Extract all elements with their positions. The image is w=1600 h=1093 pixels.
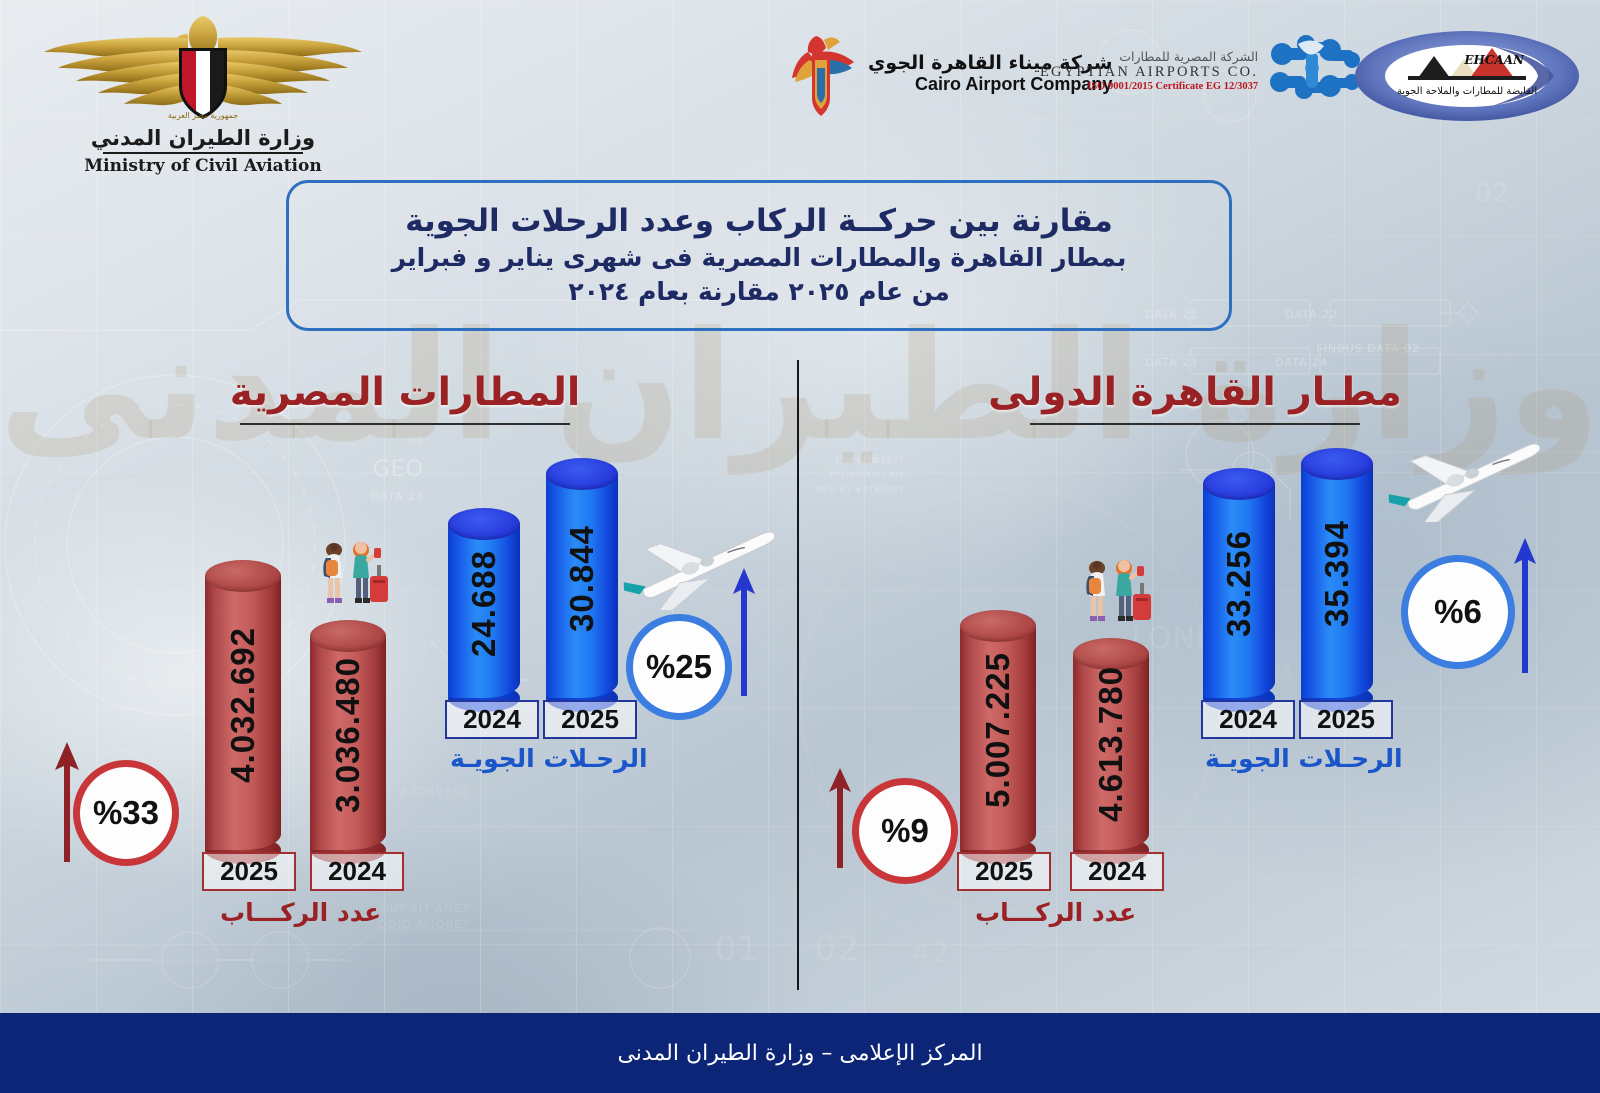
- panel-egyptian-airports: المطارات المصرية 4.032.692 3.036.480: [20, 370, 790, 980]
- category-label-passengers: عدد الركـــاب: [975, 898, 1136, 927]
- eac-arabic-label: الشركة المصرية للمطارات: [1040, 49, 1258, 64]
- moca-divider: [103, 152, 303, 154]
- eac-english-label: EGYPTIAN AIRPORTS CO.: [1040, 64, 1258, 81]
- year-tag-passengers-2024: 2024: [1070, 852, 1164, 891]
- bar-value: 30.844: [546, 458, 618, 698]
- bar-value: 33.256: [1203, 468, 1275, 698]
- logo-ehcaan: EHCAAN القابضة للمطارات والملاحة الجوية: [1352, 26, 1582, 126]
- airplane-icon: [1385, 432, 1550, 526]
- category-label-passengers: عدد الركـــاب: [220, 898, 381, 927]
- travellers-illustration: [1071, 556, 1157, 642]
- airplane-icon: [620, 520, 785, 614]
- svg-text:جمهورية مصر العربية: جمهورية مصر العربية: [168, 111, 238, 120]
- category-label-flights: الرحـلات الجويـة: [1205, 744, 1403, 773]
- horus-falcon-icon: [786, 30, 860, 116]
- main-title-box: مقارنة بين حركــة الركاب وعدد الرحلات ال…: [286, 180, 1232, 331]
- bar-flights-2024-egyptian-airports: 24.688: [448, 508, 520, 698]
- growth-badge-passengers: %33: [73, 760, 179, 866]
- growth-badge-passengers: %9: [852, 778, 958, 884]
- bar-value: 4.613.780: [1073, 638, 1149, 850]
- logo-bar: جمهورية مصر العربية وزارة الطيران المدني…: [0, 0, 1600, 185]
- golden-wings-icon: جمهورية مصر العربية: [38, 12, 368, 124]
- title-line-2: بمطار القاهرة والمطارات المصرية فى شهرى …: [392, 241, 1127, 275]
- panel-header-egyptian-airports: المطارات المصرية: [20, 370, 790, 425]
- panel-title-cairo-international-airport: مطـار القاهرة الدولى: [805, 370, 1585, 415]
- growth-badge-flights: %6: [1401, 555, 1515, 669]
- growth-arrow-passengers-up-icon: [50, 742, 84, 866]
- moca-arabic-label: وزارة الطيران المدني: [38, 126, 368, 150]
- growth-arrow-passengers-up-icon: [825, 768, 855, 872]
- panel-divider: [797, 360, 799, 990]
- bar-passengers-2024-cairo-airport: 4.613.780: [1073, 638, 1149, 850]
- bar-value: 24.688: [448, 508, 520, 698]
- molecule-network-icon: [1268, 34, 1360, 106]
- panel-title-underline: [240, 423, 570, 425]
- footer-text: المركز الإعلامى – وزارة الطيران المدنى: [617, 1041, 982, 1066]
- eac-iso-label: ISO 9001/2015 Certificate EG 12/3037: [1040, 81, 1258, 92]
- bar-flights-2024-cairo-airport: 33.256: [1203, 468, 1275, 698]
- panel-cairo-international-airport: مطـار القاهرة الدولى 5.007.225 4.613.780: [805, 370, 1585, 980]
- year-tag-passengers-2025: 2025: [957, 852, 1051, 891]
- logo-egyptian-airports-company: الشركة المصرية للمطارات EGYPTIAN AIRPORT…: [1040, 34, 1360, 106]
- year-tag-flights-2024: 2024: [1201, 700, 1295, 739]
- bar-passengers-2024-egyptian-airports: 3.036.480: [310, 620, 386, 850]
- travellers-illustration: [308, 538, 394, 624]
- growth-arrow-flights-up-icon: [1511, 538, 1539, 677]
- bar-value: 35.394: [1301, 448, 1373, 698]
- growth-badge-flights: %25: [626, 614, 732, 720]
- year-tag-flights-2025: 2025: [1299, 700, 1393, 739]
- title-line-1: مقارنة بين حركــة الركاب وعدد الرحلات ال…: [405, 202, 1113, 241]
- bar-passengers-2025-egyptian-airports: 4.032.692: [205, 560, 281, 850]
- svg-text:القابضة للمطارات والملاحة الجو: القابضة للمطارات والملاحة الجوية: [1397, 86, 1537, 97]
- logo-ministry-of-civil-aviation: جمهورية مصر العربية وزارة الطيران المدني…: [38, 12, 368, 176]
- footer-bar: المركز الإعلامى – وزارة الطيران المدنى: [0, 1013, 1600, 1093]
- bar-flights-2025-egyptian-airports: 30.844: [546, 458, 618, 698]
- year-tag-passengers-2024: 2024: [310, 852, 404, 891]
- bar-value: 5.007.225: [960, 610, 1036, 850]
- year-tag-flights-2024: 2024: [445, 700, 539, 739]
- bar-value: 3.036.480: [310, 620, 386, 850]
- bar-passengers-2025-cairo-airport: 5.007.225: [960, 610, 1036, 850]
- bar-flights-2025-cairo-airport: 35.394: [1301, 448, 1373, 698]
- panel-title-underline: [1030, 423, 1360, 425]
- title-line-3: من عام ٢٠٢٥ مقارنة بعام ٢٠٢٤: [568, 275, 949, 309]
- year-tag-flights-2025: 2025: [543, 700, 637, 739]
- panel-header-cairo-international-airport: مطـار القاهرة الدولى: [805, 370, 1585, 425]
- svg-text:EHCAAN: EHCAAN: [1463, 53, 1525, 67]
- bar-value: 4.032.692: [205, 560, 281, 850]
- category-label-flights: الرحـلات الجويـة: [450, 744, 648, 773]
- year-tag-passengers-2025: 2025: [202, 852, 296, 891]
- moca-english-label: Ministry of Civil Aviation: [38, 156, 368, 176]
- panel-title-egyptian-airports: المطارات المصرية: [20, 370, 790, 415]
